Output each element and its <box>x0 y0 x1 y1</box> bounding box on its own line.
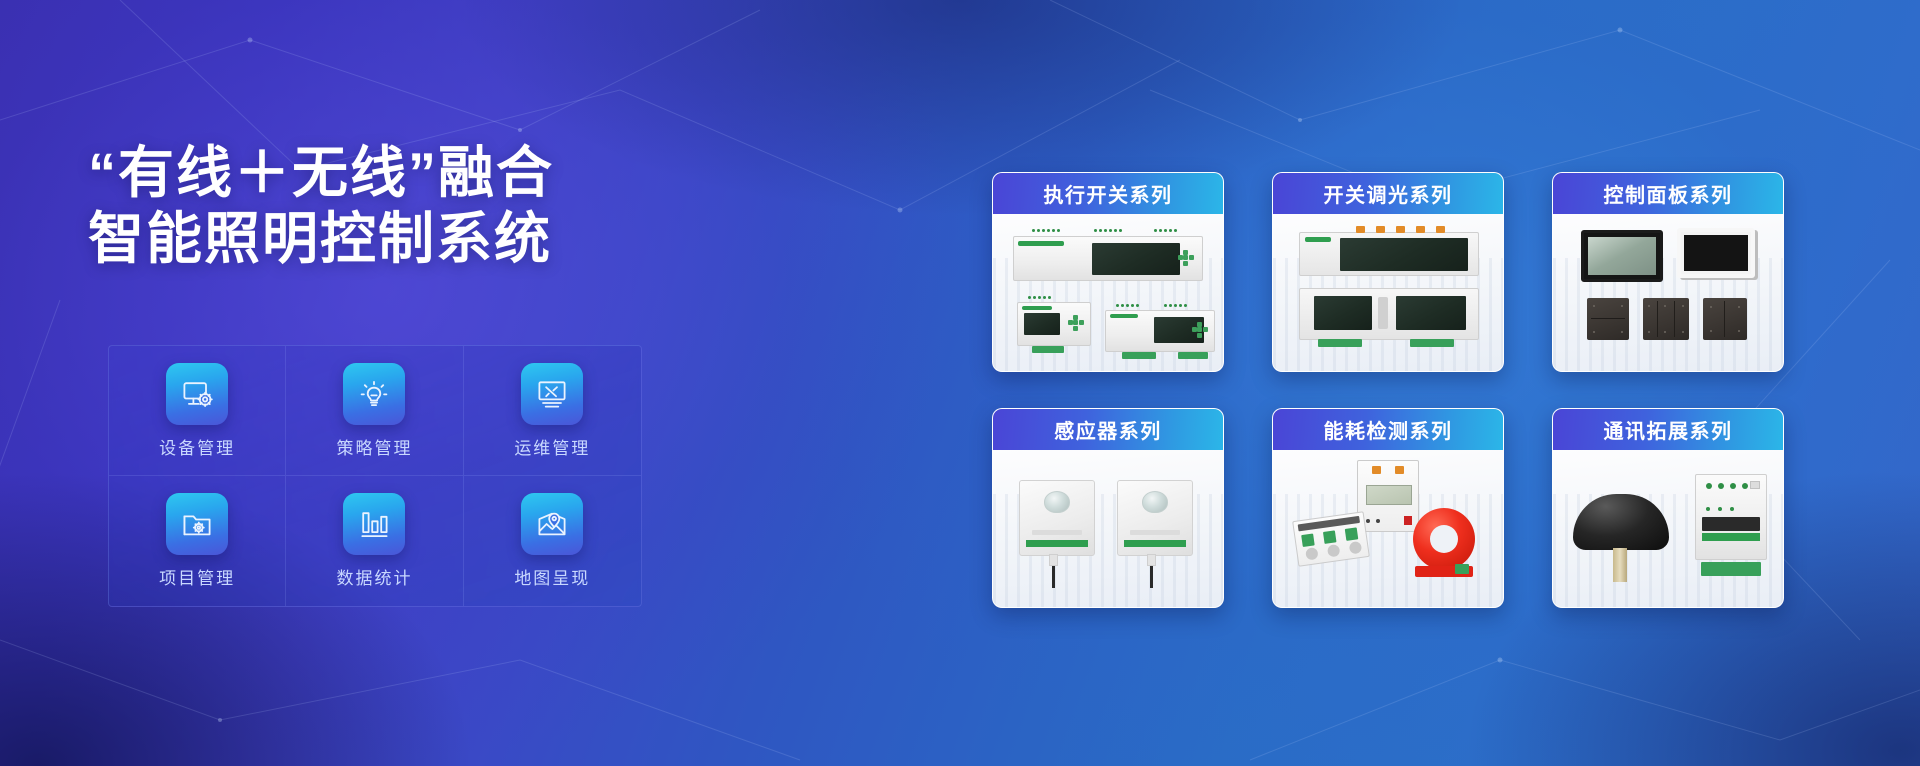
feature-item-device-management[interactable]: 设备管理 <box>109 346 286 476</box>
product-card[interactable]: 控制面板系列 <box>1552 172 1784 372</box>
product-card-image <box>1553 450 1783 607</box>
feature-label: 地图呈现 <box>514 564 590 589</box>
feature-label: 项目管理 <box>159 564 235 589</box>
product-card[interactable]: 能耗检测系列 <box>1272 408 1504 608</box>
banner-root: “有线＋无线”融合 智能照明控制系统 设备管理 <box>0 0 1920 766</box>
product-card-title: 执行开关系列 <box>993 173 1223 214</box>
product-card-title: 开关调光系列 <box>1273 173 1503 214</box>
product-card-grid: 执行开关系列 <box>992 172 1784 608</box>
monitor-tools-icon <box>521 363 583 425</box>
product-card[interactable]: 开关调光系列 <box>1272 172 1504 372</box>
feature-label: 运维管理 <box>514 434 590 459</box>
feature-grid: 设备管理 策略管理 运维管理 <box>108 345 642 607</box>
headline-block: “有线＋无线”融合 智能照明控制系统 <box>88 140 648 272</box>
product-card[interactable]: 感应器系列 <box>992 408 1224 608</box>
product-card-title: 感应器系列 <box>993 409 1223 450</box>
product-card-image <box>1273 214 1503 371</box>
product-card-title: 能耗检测系列 <box>1273 409 1503 450</box>
product-card-image <box>993 214 1223 371</box>
feature-item-project-management[interactable]: 项目管理 <box>109 476 286 606</box>
product-card-image <box>993 450 1223 607</box>
headline-line-2: 智能照明控制系统 <box>88 206 648 272</box>
folder-gear-icon <box>166 493 228 555</box>
feature-item-operations-management[interactable]: 运维管理 <box>464 346 641 476</box>
lightbulb-icon <box>343 363 405 425</box>
headline-line-1: “有线＋无线”融合 <box>88 140 648 206</box>
feature-label: 数据统计 <box>336 564 412 589</box>
product-card-title: 通讯拓展系列 <box>1553 409 1783 450</box>
map-pin-icon <box>521 493 583 555</box>
feature-label: 设备管理 <box>159 434 235 459</box>
product-card[interactable]: 通讯拓展系列 <box>1552 408 1784 608</box>
monitor-gear-icon <box>166 363 228 425</box>
product-card-image <box>1553 214 1783 371</box>
bar-chart-icon <box>343 493 405 555</box>
product-card-title: 控制面板系列 <box>1553 173 1783 214</box>
product-card[interactable]: 执行开关系列 <box>992 172 1224 372</box>
feature-item-policy-management[interactable]: 策略管理 <box>286 346 463 476</box>
feature-item-map-display[interactable]: 地图呈现 <box>464 476 641 606</box>
feature-item-data-statistics[interactable]: 数据统计 <box>286 476 463 606</box>
product-card-image <box>1273 450 1503 607</box>
feature-label: 策略管理 <box>336 434 412 459</box>
